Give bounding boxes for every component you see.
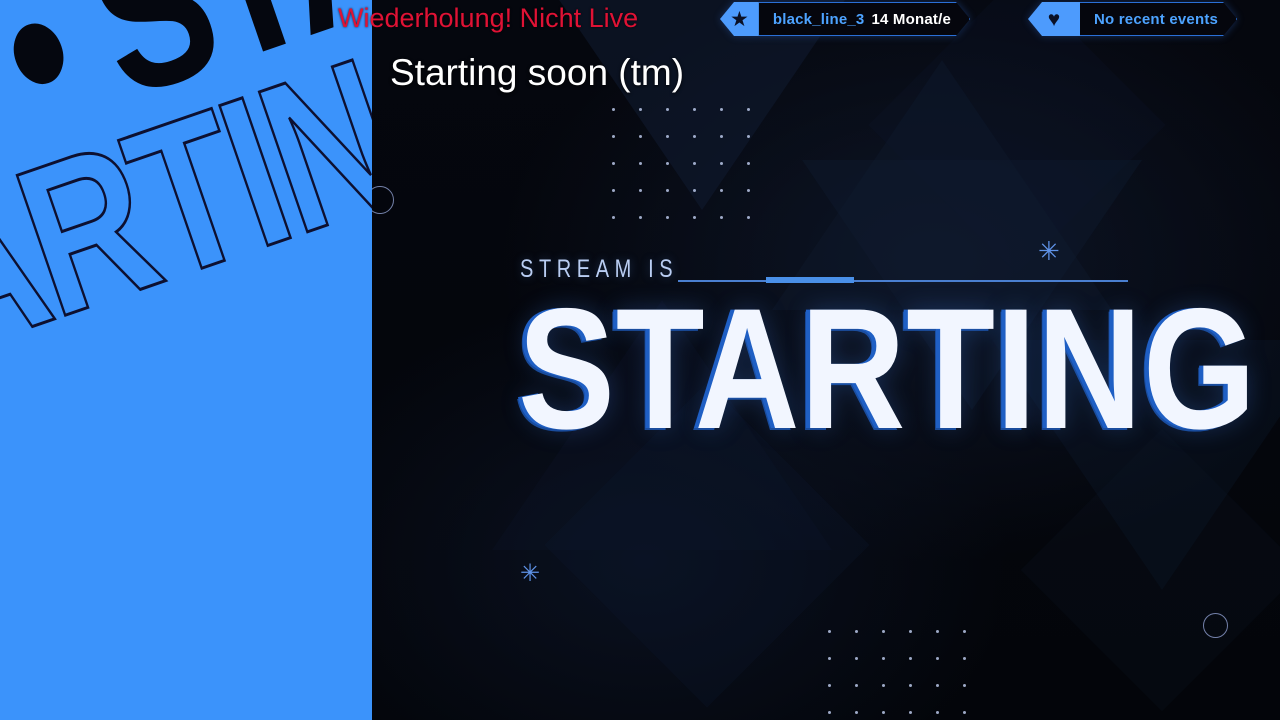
grid-dot [909, 657, 912, 660]
grid-dot [720, 189, 723, 192]
grid-dot [693, 216, 696, 219]
grid-dot [747, 135, 750, 138]
grid-dot [909, 630, 912, 633]
grid-dot [693, 189, 696, 192]
asterisk-icon-left: ✳ [520, 562, 540, 586]
main-scene-panel: ✳ ✳ STREAM IS STARTING SOON [372, 0, 1280, 720]
grid-dot [747, 162, 750, 165]
bg-diamond-3 [1021, 429, 1280, 712]
grid-dot [747, 189, 750, 192]
grid-dot [666, 135, 669, 138]
grid-dot [612, 135, 615, 138]
grid-dot [963, 684, 966, 687]
grid-dot [882, 684, 885, 687]
grid-dot [828, 711, 831, 714]
grid-dot [720, 216, 723, 219]
grid-dot [666, 189, 669, 192]
grid-dot [855, 684, 858, 687]
grid-dot [882, 630, 885, 633]
grid-dot [666, 108, 669, 111]
grid-dot [828, 684, 831, 687]
grid-dot [936, 657, 939, 660]
headline-text: STARTING SOON [518, 283, 1280, 455]
grid-dot [909, 684, 912, 687]
grid-dot [720, 162, 723, 165]
grid-dot [855, 630, 858, 633]
grid-dot [963, 630, 966, 633]
grid-dot [855, 711, 858, 714]
headline-block: STREAM IS STARTING SOON [520, 255, 1280, 289]
grid-dot [936, 711, 939, 714]
grid-dot [720, 135, 723, 138]
left-decorative-panel: ARTING N • STA ARTING [0, 0, 372, 720]
grid-dot [666, 216, 669, 219]
grid-dot [639, 216, 642, 219]
grid-dot [936, 684, 939, 687]
dot-grid-bottom [828, 630, 990, 720]
grid-dot [882, 711, 885, 714]
grid-dot [963, 657, 966, 660]
dot-grid-top [612, 108, 774, 243]
grid-dot [639, 108, 642, 111]
grid-dot [828, 630, 831, 633]
grid-dot [747, 108, 750, 111]
grid-dot [612, 189, 615, 192]
grid-dot [747, 216, 750, 219]
grid-dot [882, 657, 885, 660]
bg-diamond-2 [869, 0, 1166, 273]
grid-dot [963, 711, 966, 714]
grid-dot [693, 162, 696, 165]
grid-dot [666, 162, 669, 165]
left-panel-typography: ARTING N • STA ARTING [0, 0, 372, 720]
grid-dot [639, 189, 642, 192]
grid-dot [639, 135, 642, 138]
stream-title-overlay: Starting soon (tm) [390, 52, 684, 94]
grid-dot [720, 108, 723, 111]
grid-dot [639, 162, 642, 165]
grid-dot [828, 657, 831, 660]
grid-dot [909, 711, 912, 714]
ring-decor-left [372, 186, 394, 214]
grid-dot [612, 162, 615, 165]
grid-dot [693, 108, 696, 111]
ring-decor-right [1203, 613, 1228, 638]
grid-dot [693, 135, 696, 138]
grid-dot [612, 216, 615, 219]
grid-dot [612, 108, 615, 111]
grid-dot [855, 657, 858, 660]
stream-overlay-scene: ARTING N • STA ARTING ✳ ✳ STREAM IS [0, 0, 1280, 720]
grid-dot [936, 630, 939, 633]
